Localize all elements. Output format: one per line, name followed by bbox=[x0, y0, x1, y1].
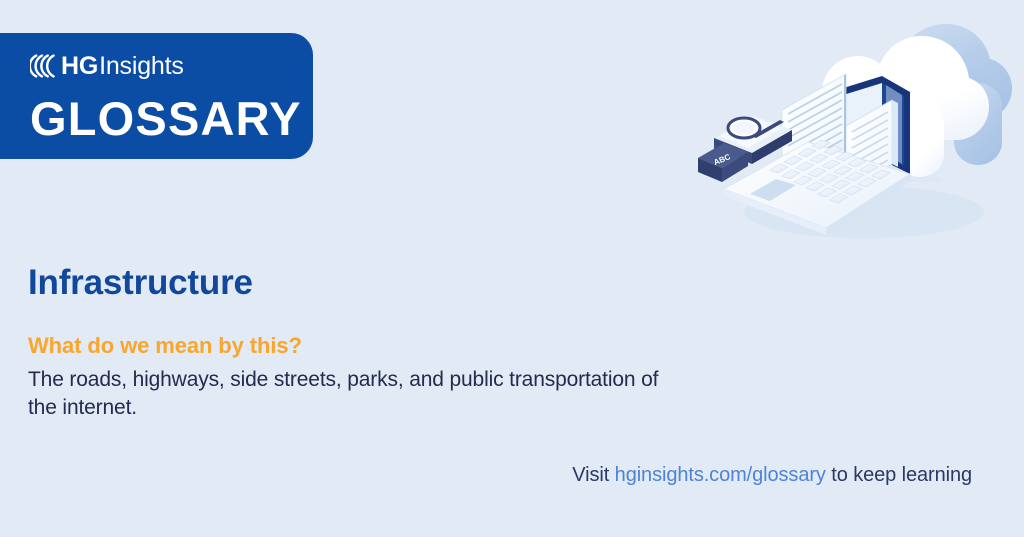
glossary-link[interactable]: hginsights.com/glossary bbox=[615, 464, 826, 486]
page-title: Infrastructure bbox=[28, 264, 253, 303]
glossary-card: HG Insights GLOSSARY Infrastructure What… bbox=[0, 0, 1024, 537]
brand-badge: HG Insights GLOSSARY bbox=[0, 33, 313, 159]
footer-cta: Visit hginsights.com/glossary to keep le… bbox=[572, 464, 972, 487]
glossary-heading: GLOSSARY bbox=[30, 95, 313, 142]
definition-prompt-label: What do we mean by this? bbox=[28, 334, 302, 358]
hg-arcs-logo-icon bbox=[30, 54, 56, 78]
isometric-laptop-book-cloud-illustration: ABC bbox=[696, 14, 1016, 264]
definition-body: The roads, highways, side streets, parks… bbox=[28, 366, 668, 423]
logo-lockup: HG Insights bbox=[30, 51, 313, 81]
footer-prefix: Visit bbox=[572, 464, 614, 486]
logo-text-insights: Insights bbox=[99, 54, 184, 79]
footer-suffix: to keep learning bbox=[826, 464, 972, 486]
logo-text-hg: HG bbox=[61, 54, 98, 79]
